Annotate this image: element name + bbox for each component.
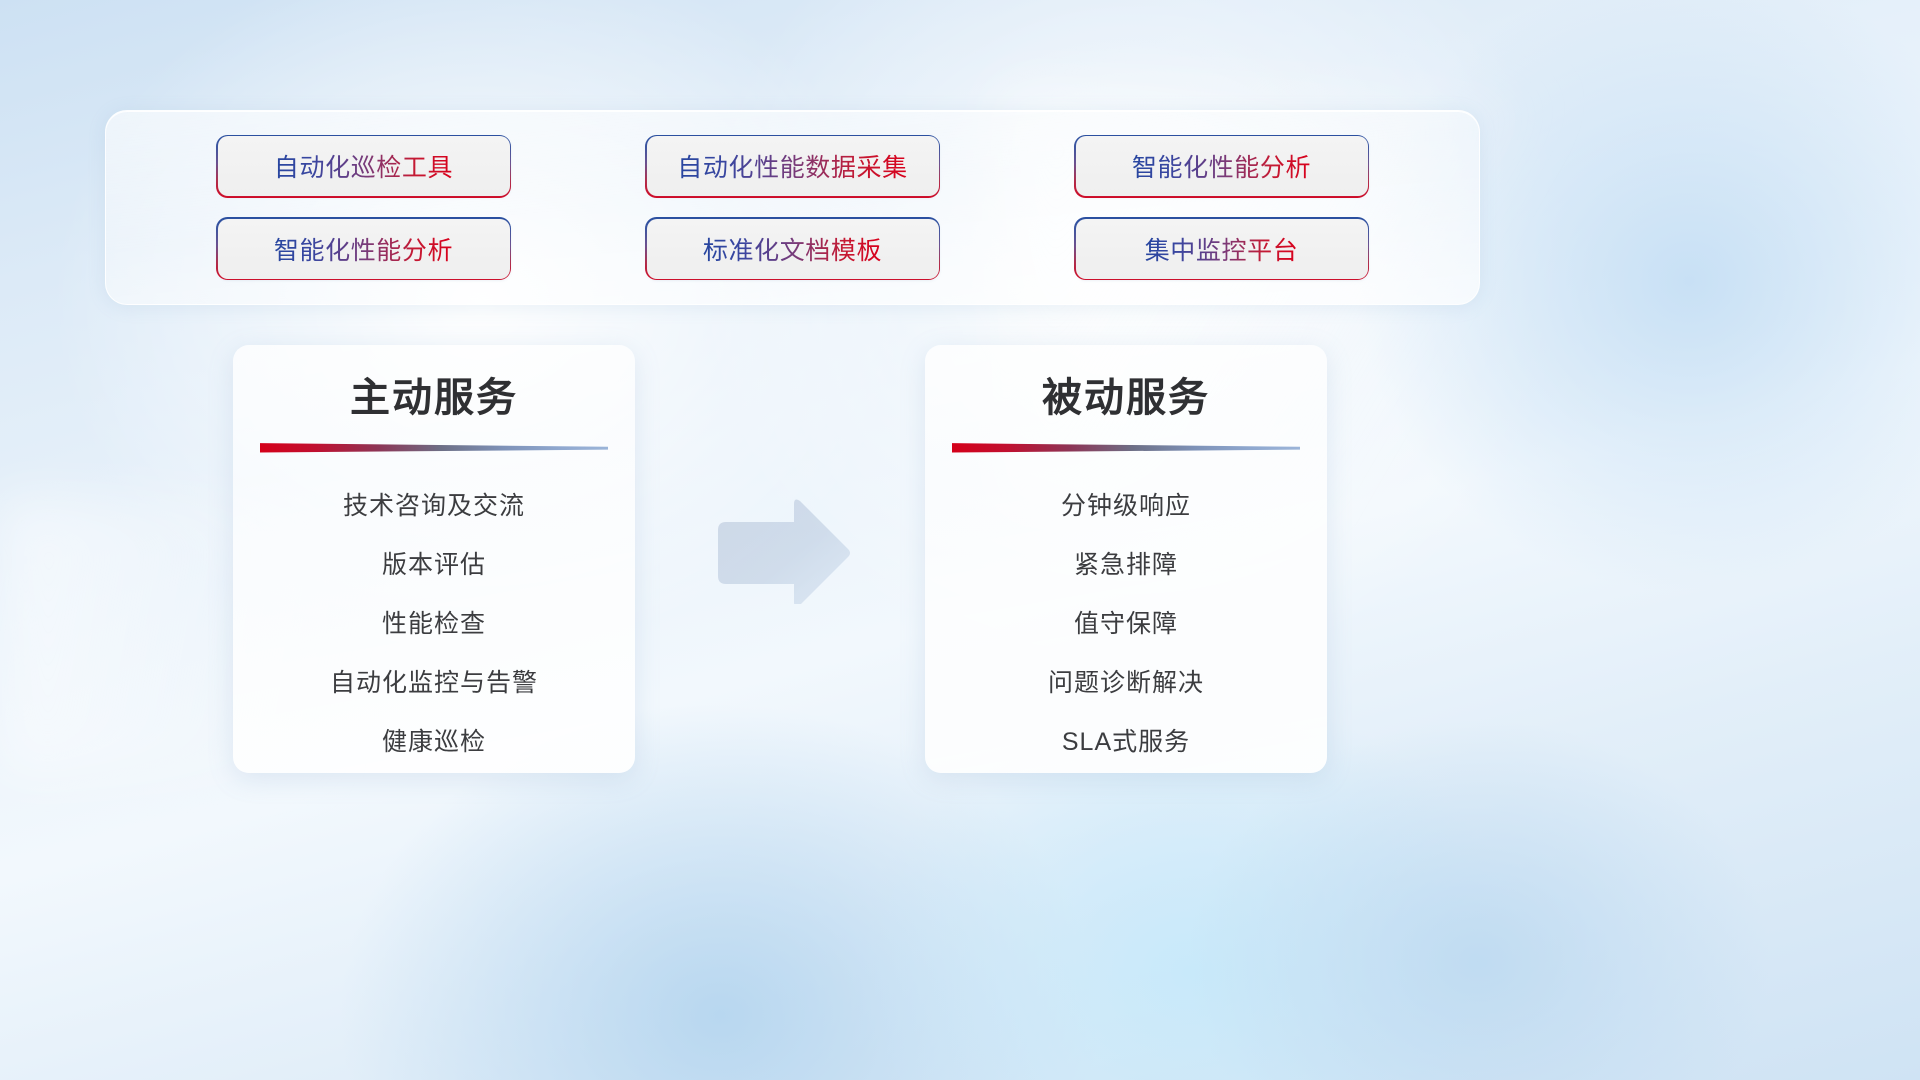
- capabilities-panel: 自动化巡检工具 自动化性能数据采集 智能化性能分析 智能化性能分析 标准化文档模…: [105, 110, 1480, 305]
- flow-arrow-right-icon: [712, 498, 854, 604]
- capability-chip-centralized-monitoring-platform[interactable]: 集中监控平台: [1076, 219, 1368, 279]
- divider-gradient-bar: [952, 441, 1300, 453]
- list-item[interactable]: 问题诊断解决: [1048, 654, 1204, 713]
- capability-chip-body[interactable]: 智能化性能分析: [1076, 136, 1368, 196]
- list-item[interactable]: 版本评估: [382, 536, 486, 595]
- list-item[interactable]: 值守保障: [1074, 595, 1178, 654]
- capability-chip-intelligent-performance-analysis-2[interactable]: 智能化性能分析: [218, 219, 510, 279]
- list-item[interactable]: 性能检查: [382, 595, 486, 654]
- capability-chip-intelligent-performance-analysis[interactable]: 智能化性能分析: [1076, 136, 1368, 196]
- list-item[interactable]: 自动化监控与告警: [330, 654, 538, 713]
- list-item[interactable]: 紧急排障: [1074, 536, 1178, 595]
- capability-chip-label: 智能化性能分析: [1132, 148, 1311, 184]
- list-item[interactable]: 技术咨询及交流: [343, 477, 525, 536]
- reactive-service-card[interactable]: 被动服务 分钟级响应 紧急排障 值守保障 问题诊断解决 SLA式服务: [925, 345, 1327, 773]
- capability-chip-automated-performance-collection[interactable]: 自动化性能数据采集: [647, 136, 939, 196]
- proactive-card-divider: [260, 441, 608, 453]
- capability-chip-body[interactable]: 自动化性能数据采集: [647, 136, 939, 196]
- capability-chip-label: 自动化性能数据采集: [677, 148, 907, 184]
- reactive-card-divider: [952, 441, 1300, 453]
- list-item[interactable]: SLA式服务: [1062, 713, 1190, 772]
- proactive-service-list: 技术咨询及交流 版本评估 性能检查 自动化监控与告警 健康巡检: [233, 477, 635, 772]
- list-item[interactable]: 健康巡检: [382, 713, 486, 772]
- capability-chip-label: 智能化性能分析: [274, 231, 453, 267]
- capability-chip-automated-inspection-tool[interactable]: 自动化巡检工具: [218, 136, 510, 196]
- proactive-service-card[interactable]: 主动服务 技术咨询及交流 版本评估 性能检查 自动化监控与告警 健康巡检: [233, 345, 635, 773]
- capability-chip-body[interactable]: 标准化文档模板: [647, 219, 939, 279]
- capability-chip-body[interactable]: 集中监控平台: [1076, 219, 1368, 279]
- reactive-card-title: 被动服务: [925, 365, 1327, 423]
- capability-chip-body[interactable]: 智能化性能分析: [218, 219, 510, 279]
- capability-chip-body[interactable]: 自动化巡检工具: [218, 136, 510, 196]
- capability-chip-label: 自动化巡检工具: [274, 148, 453, 184]
- divider-gradient-bar: [260, 441, 608, 453]
- reactive-service-list: 分钟级响应 紧急排障 值守保障 问题诊断解决 SLA式服务: [925, 477, 1327, 772]
- capability-chip-standardized-doc-template[interactable]: 标准化文档模板: [647, 219, 939, 279]
- proactive-card-title: 主动服务: [233, 365, 635, 423]
- capability-chip-label: 集中监控平台: [1145, 231, 1299, 267]
- list-item[interactable]: 分钟级响应: [1061, 477, 1191, 536]
- capability-chip-label: 标准化文档模板: [703, 231, 882, 267]
